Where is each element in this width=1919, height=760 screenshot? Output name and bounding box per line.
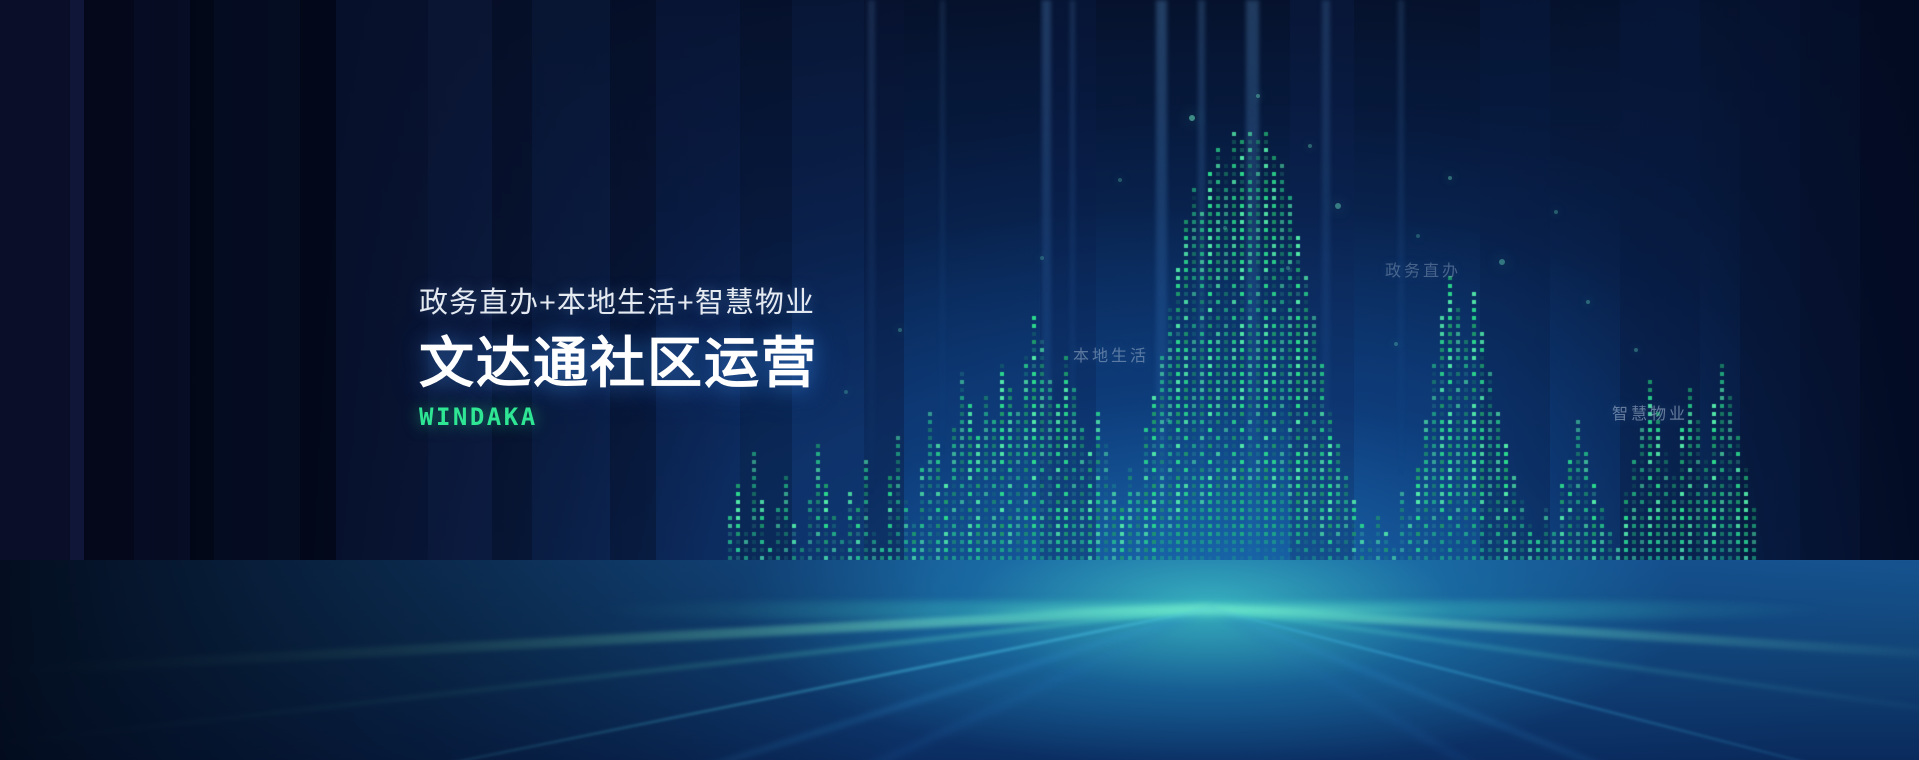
sparkle-dot <box>1554 210 1558 214</box>
perspective-ground <box>0 560 1919 760</box>
sparkle-dot <box>1166 418 1170 422</box>
sparkle-dot <box>1448 176 1452 180</box>
hero-text-block: 政务直办+本地生活+智慧物业 文达通社区运营 WINDAKA <box>419 289 818 429</box>
sparkle-dot <box>1189 115 1195 121</box>
sparkle-dot <box>1335 203 1341 209</box>
horizon-glow <box>0 600 1919 620</box>
sparkle-dot <box>1499 259 1505 265</box>
sparkle-dot <box>1394 342 1398 346</box>
sparkle-dot <box>1586 300 1590 304</box>
sparkle-dot <box>1634 348 1638 352</box>
sparkle-dot <box>1286 266 1290 270</box>
brand-wordmark: WINDAKA <box>419 405 818 429</box>
sparkle-dot <box>1040 256 1044 260</box>
sparkle-dot <box>1308 144 1312 148</box>
hero-subtitle: 政务直办+本地生活+智慧物业 <box>419 289 818 318</box>
sparkle-dot <box>844 390 848 394</box>
banner-hero: 政务直办本地生活智慧物业 政务直办+本地生活+智慧物业 文达通社区运营 WIND… <box>0 0 1919 760</box>
sparkle-dot <box>1223 226 1227 230</box>
sparkle-dot <box>1416 234 1420 238</box>
sparkle-dot <box>1256 94 1260 98</box>
sparkle-dot <box>1118 178 1122 182</box>
hero-title: 文达通社区运营 <box>419 336 818 391</box>
zone-label-2: 本地生活 <box>1073 342 1149 366</box>
zone-label-1: 政务直办 <box>1385 257 1461 281</box>
zone-label-3: 智慧物业 <box>1612 400 1688 424</box>
sparkle-dot <box>898 328 902 332</box>
